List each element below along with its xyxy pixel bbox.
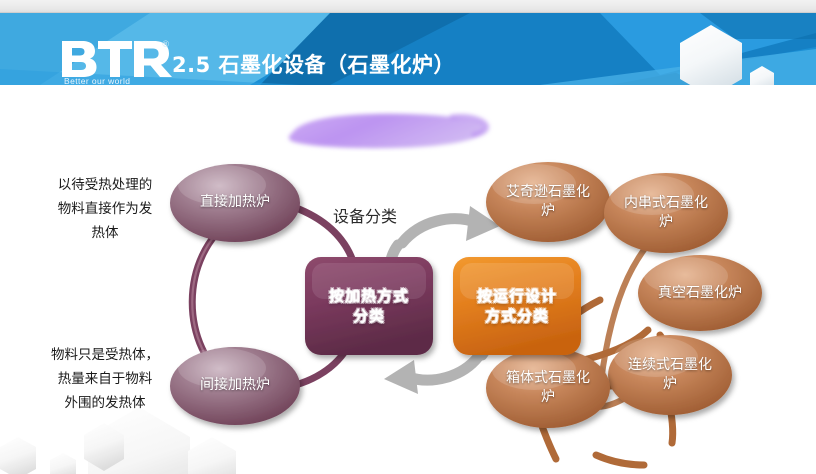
- node-acheson-graphitization-furnace[interactable]: [486, 162, 610, 242]
- node-direct-heating-furnace[interactable]: [170, 164, 300, 242]
- node-inner-series-graphitization-furnace[interactable]: [604, 173, 728, 253]
- brush-stroke-label: 设备分类: [300, 203, 430, 227]
- brush-stroke-highlight: [289, 114, 487, 148]
- note-indirect-heating: 物料只是受热体， 热量来自于物料 外围的发热体: [32, 343, 178, 415]
- page-title: 2.5 石墨化设备（石墨化炉）: [172, 49, 455, 79]
- node-continuous-graphitization-furnace[interactable]: [608, 335, 732, 415]
- node-box-type-graphitization-furnace[interactable]: [486, 348, 610, 428]
- btr-logo-mark: [60, 39, 175, 79]
- center-box-heating-method[interactable]: [305, 257, 433, 355]
- logo-tagline: Better our world: [64, 76, 130, 85]
- note-direct-heating: 以待受热处理的 物料直接作为发 热体: [36, 173, 174, 245]
- slide-body: 设备分类 以待受热处理的 物料直接作为发 热体 物料只是受热体， 热量来自于物料…: [0, 85, 816, 474]
- node-indirect-heating-furnace[interactable]: [170, 347, 300, 425]
- slide-root: ® Better our world 2.5 石墨化设备（石墨化炉）: [0, 0, 816, 474]
- center-box-operation-design[interactable]: [453, 257, 581, 355]
- registered-trademark-icon: ®: [162, 39, 169, 49]
- node-vacuum-graphitization-furnace[interactable]: [638, 255, 762, 331]
- btr-logo: ® Better our world: [60, 39, 175, 85]
- diagram-graphics: [0, 85, 816, 474]
- slide-header: ® Better our world 2.5 石墨化设备（石墨化炉）: [0, 13, 816, 85]
